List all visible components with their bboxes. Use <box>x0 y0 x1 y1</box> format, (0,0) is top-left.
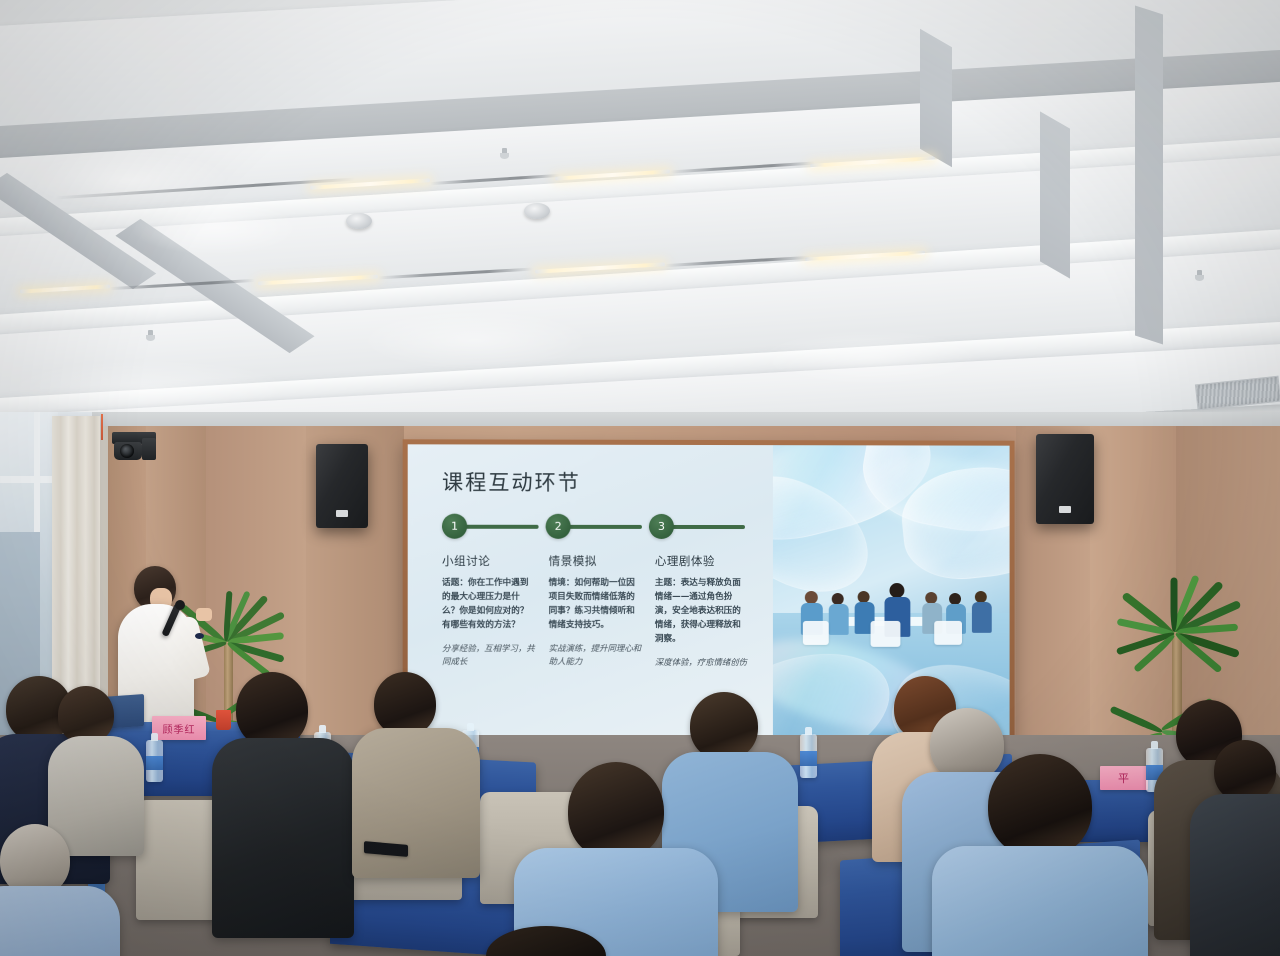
smoke-detector <box>346 213 372 229</box>
water-bottle <box>146 740 163 782</box>
conference-room-scene: 课程互动环节 1 2 3 <box>0 0 1280 956</box>
column-heading: 情景模拟 <box>549 553 643 569</box>
slide-column: 小组讨论 话题：你在工作中遇到的最大心理压力是什么？你是如何应对的？有哪些有效的… <box>442 553 549 670</box>
paper-cup <box>216 710 231 730</box>
wall-speaker-left <box>316 444 368 528</box>
ceiling-sprinkler <box>146 330 155 343</box>
column-footnote: 分享经验，互相学习，共同成长 <box>442 642 537 669</box>
column-heading: 心理剧体验 <box>655 553 749 569</box>
timeline-step-1: 1 <box>442 514 467 539</box>
slide-column: 心理剧体验 主题：表达与释放负面情绪——通过角色扮演，安全地表达积压的情绪，获得… <box>655 553 761 669</box>
name-card-right: 平 <box>1100 766 1148 790</box>
water-bottle <box>800 734 817 778</box>
ceiling-sprinkler <box>500 148 509 161</box>
ceiling <box>0 0 1280 430</box>
timeline-step-2: 2 <box>546 514 571 539</box>
column-body: 主题：表达与释放负面情绪——通过角色扮演，安全地表达积压的情绪，获得心理释放和洞… <box>655 577 749 647</box>
wall-speaker-right <box>1036 434 1094 524</box>
column-body: 情境：如何帮助一位因项目失败而情绪低落的同事？练习共情倾听和情绪支持技巧。 <box>549 577 643 633</box>
column-heading: 小组讨论 <box>442 553 537 569</box>
name-card-left: 顾季红 <box>152 716 206 740</box>
column-body: 话题：你在工作中遇到的最大心理压力是什么？你是如何应对的？有哪些有效的方法？ <box>442 577 537 633</box>
hanging-cable <box>101 414 103 440</box>
slide-illustration <box>773 445 1009 745</box>
column-footnote: 深度体验，疗愈情绪创伤 <box>655 656 749 670</box>
ptz-camera <box>112 432 156 462</box>
slide-title: 课程互动环节 <box>442 466 761 497</box>
slide-timeline: 1 2 3 <box>442 514 761 540</box>
slide-columns: 小组讨论 话题：你在工作中遇到的最大心理压力是什么？你是如何应对的？有哪些有效的… <box>442 553 761 670</box>
timeline-step-3: 3 <box>649 514 674 539</box>
ceiling-sprinkler <box>1195 270 1204 283</box>
smoke-detector <box>524 203 550 219</box>
column-footnote: 实战演练，提升同理心和助人能力 <box>549 642 643 669</box>
slide-column: 情景模拟 情境：如何帮助一位因项目失败而情绪低落的同事？练习共情倾听和情绪支持技… <box>549 553 655 669</box>
